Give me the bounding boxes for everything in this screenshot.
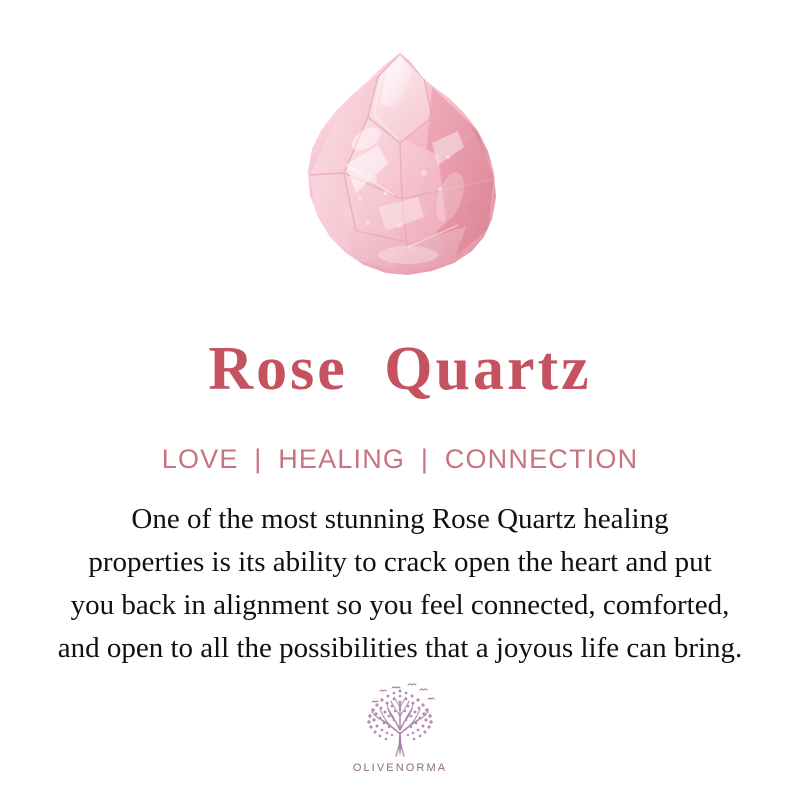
brand-logo: OLIVENORMA [0,682,800,775]
tree-of-life-icon [358,682,442,758]
keyword-separator-2: | [414,444,436,474]
description-paragraph: One of the most stunning Rose Quartz hea… [18,498,782,670]
description-line-1: One of the most stunning Rose Quartz hea… [18,498,782,541]
description-line-3: you back in alignment so you feel connec… [18,584,782,627]
keyword-separator-1: | [247,444,269,474]
brand-wordmark: OLIVENORMA [353,761,447,775]
keyword-love: LOVE [162,444,239,474]
page-title: Rose Quartz [0,334,800,404]
rose-quartz-poster: Rose Quartz LOVE | HEALING | CONNECTION … [0,0,800,800]
keyword-healing: HEALING [278,444,405,474]
keyword-tagline: LOVE | HEALING | CONNECTION [0,442,800,476]
keyword-connection: CONNECTION [445,444,639,474]
description-line-4: and open to all the possibilities that a… [18,627,782,670]
description-line-2: properties is its ability to crack open … [18,541,782,584]
rose-quartz-crystal-icon [282,47,518,283]
crystal-image-container [0,40,800,290]
